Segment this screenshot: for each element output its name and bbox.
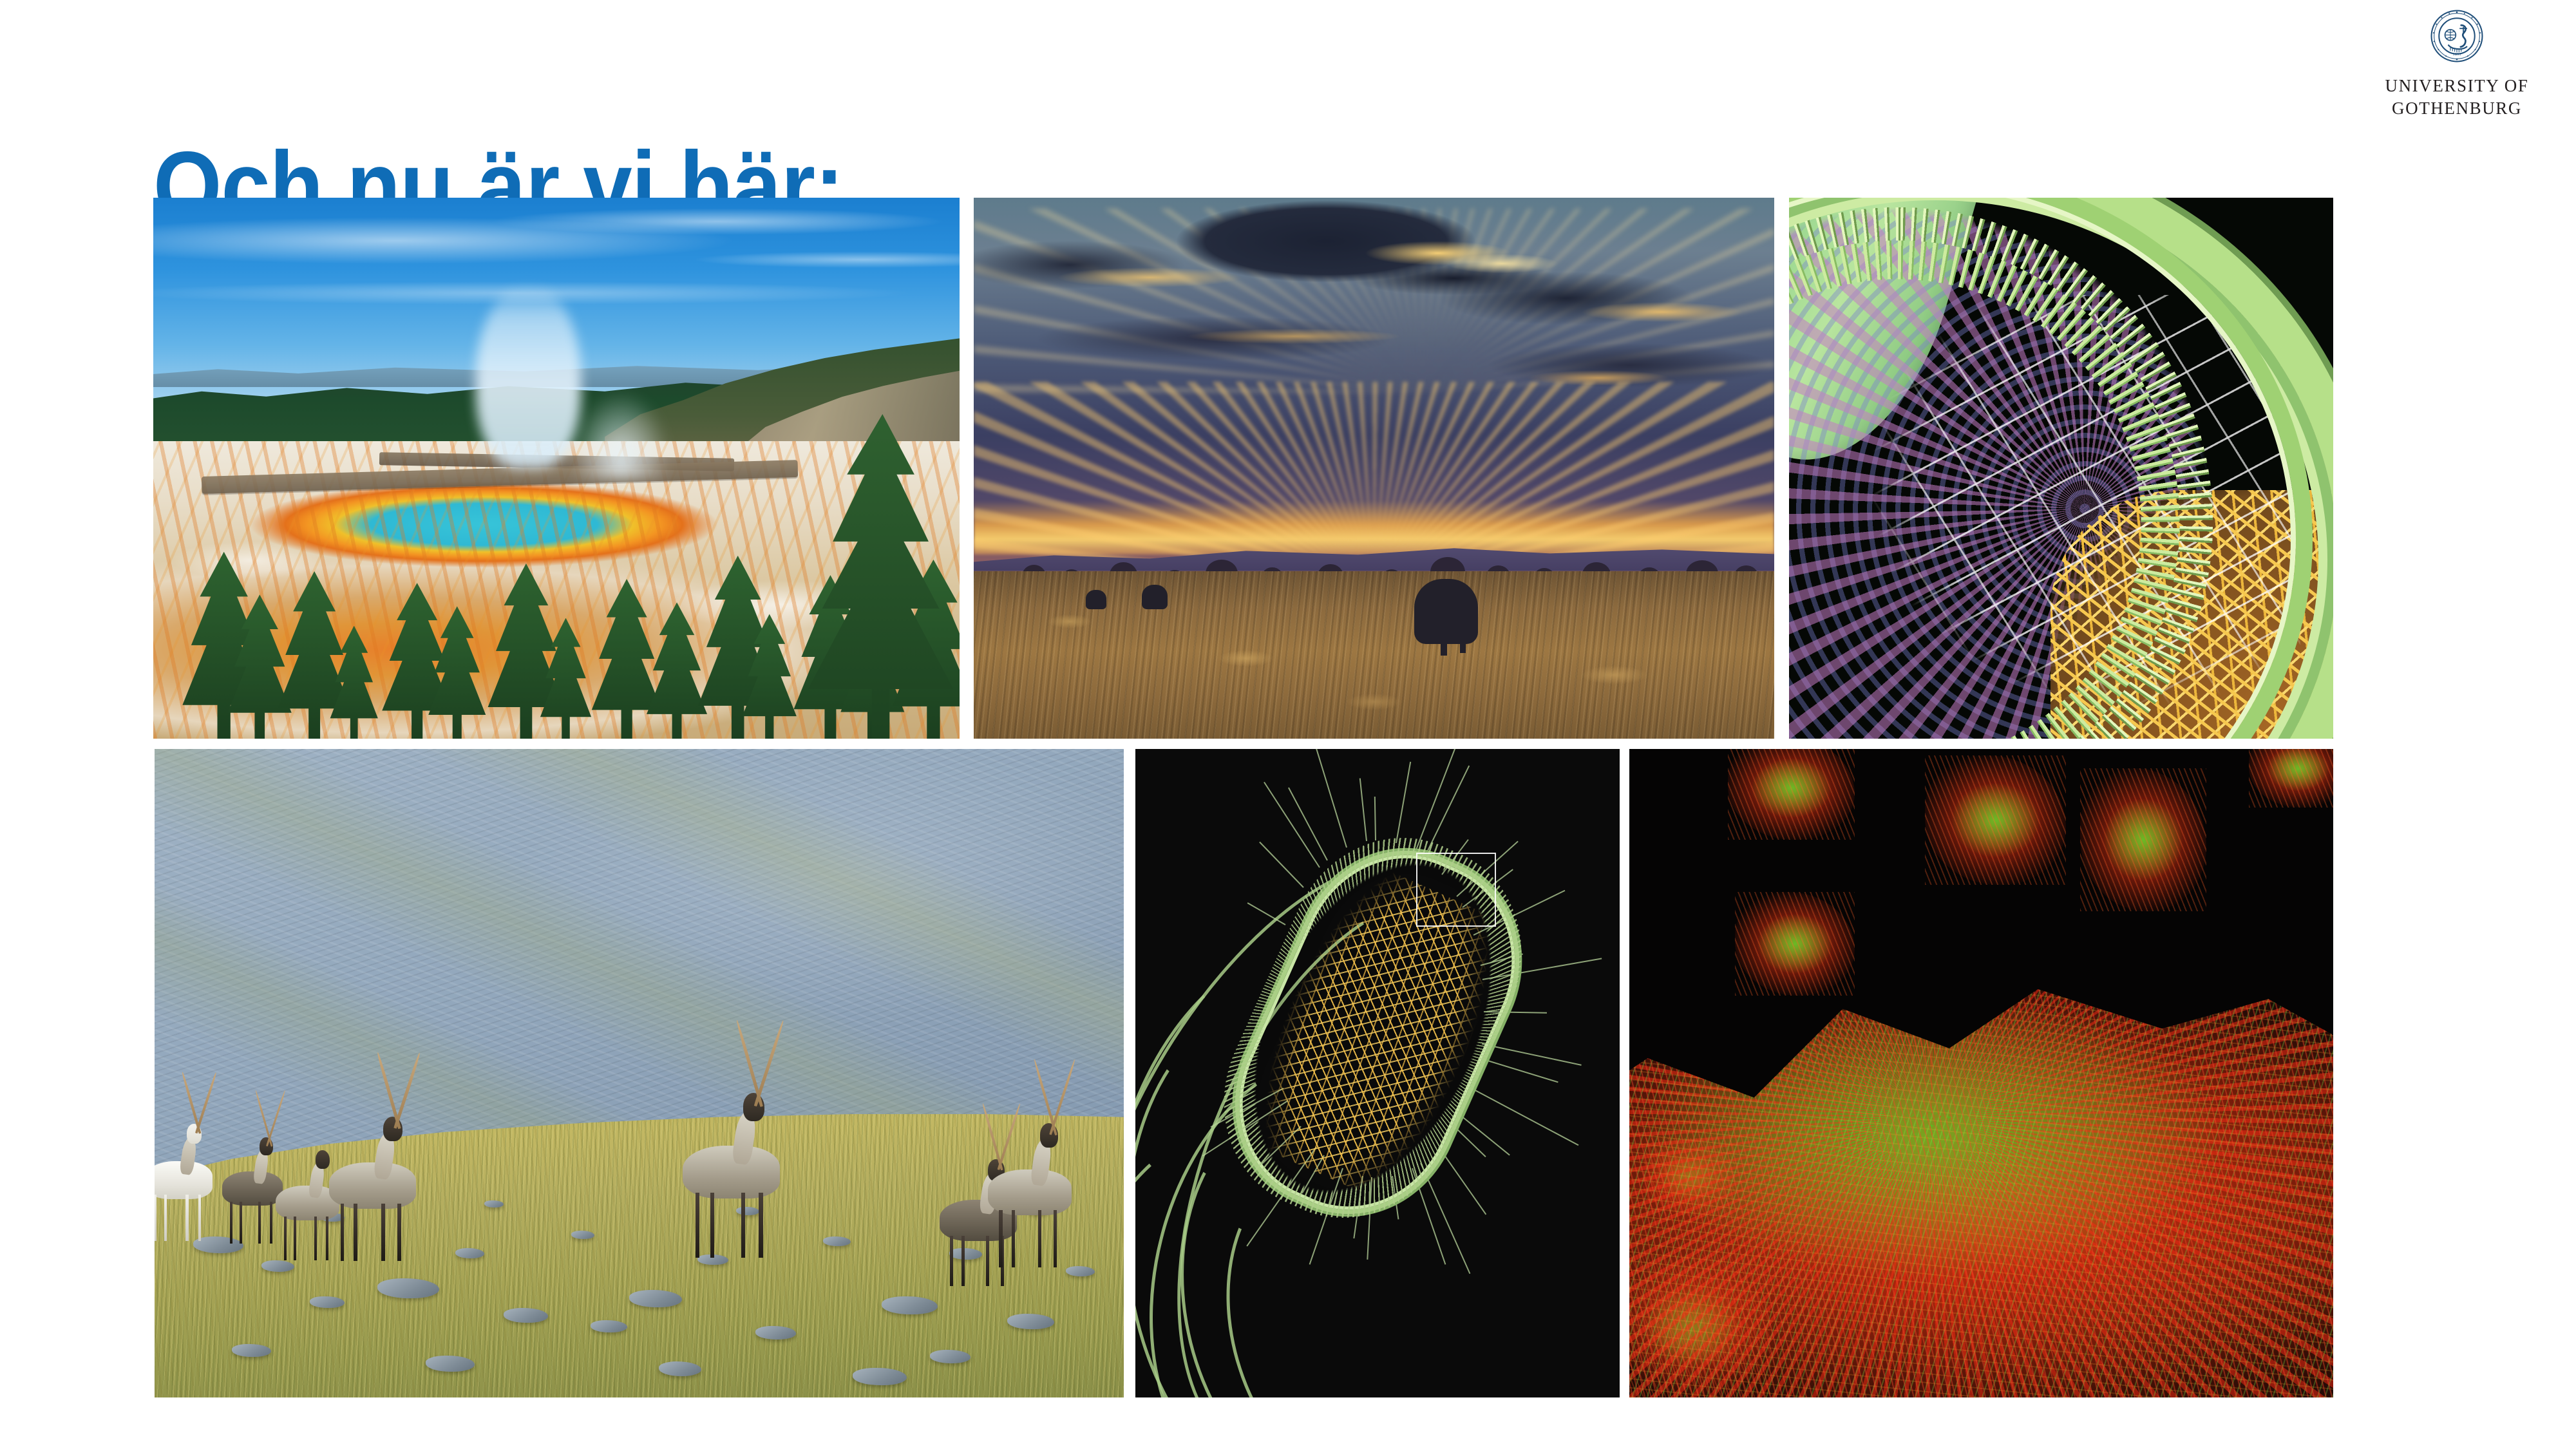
reindeer-legs xyxy=(690,1193,772,1258)
reindeer-leg xyxy=(326,1217,328,1260)
reindeer-leg xyxy=(381,1204,385,1261)
zoom-region-marker xyxy=(1416,853,1496,927)
reindeer-body xyxy=(222,1171,282,1206)
university-seal-icon: 1891 xyxy=(2430,9,2484,63)
pilus xyxy=(1454,1126,1486,1157)
university-logo-text: UNIVERSITY OF GOTHENBURG xyxy=(2383,75,2531,119)
reindeer-leg xyxy=(1054,1210,1057,1267)
university-logo: 1891 UNIVERSITY OF GOTHENBURG xyxy=(2383,9,2531,119)
grand-prismatic-spring-photo[interactable] xyxy=(153,198,960,739)
elephant-distant-1 xyxy=(1142,585,1168,610)
reindeer xyxy=(988,1128,1071,1264)
reindeer-leg xyxy=(240,1202,242,1244)
bacterial-cell-cross-section-illustration[interactable] xyxy=(1789,198,2333,739)
logo-line-1: UNIVERSITY OF xyxy=(2383,75,2531,97)
elephant-foreground xyxy=(1414,579,1478,644)
crepuscular-rays xyxy=(974,382,1774,566)
reindeer-antlers xyxy=(383,1051,413,1130)
conifer-tree xyxy=(637,602,717,739)
reindeer-leg xyxy=(314,1217,317,1260)
reindeer-legs xyxy=(155,1195,207,1241)
logo-line-2: GOTHENBURG xyxy=(2383,97,2531,120)
antler-right xyxy=(393,1052,421,1128)
reindeer xyxy=(329,1122,416,1258)
reindeer-leg xyxy=(155,1195,156,1241)
reindeer-body xyxy=(683,1146,780,1198)
reindeer-antlers xyxy=(260,1089,280,1148)
reindeer-herd-tundra-photo[interactable] xyxy=(155,749,1124,1397)
reindeer-antlers xyxy=(743,1018,776,1108)
nucleus xyxy=(1629,1003,1643,1015)
reindeer-legs xyxy=(281,1217,334,1260)
reindeer-body xyxy=(988,1170,1071,1216)
reindeer-leg xyxy=(741,1193,745,1258)
nucleus xyxy=(1629,781,1670,815)
antler-right xyxy=(266,1090,286,1146)
antler-right xyxy=(194,1072,216,1134)
reindeer-legs xyxy=(227,1202,278,1244)
pilus xyxy=(1259,842,1303,888)
pilus xyxy=(1374,797,1376,840)
antler-right xyxy=(754,1020,785,1107)
fluorescence-microscopy-cells-photo[interactable] xyxy=(1629,749,2333,1397)
reindeer-leg xyxy=(950,1236,953,1286)
reindeer-body xyxy=(329,1162,416,1209)
reindeer-leg xyxy=(710,1193,714,1258)
reindeer xyxy=(683,1099,780,1255)
reindeer-leg xyxy=(294,1217,296,1260)
reindeer-leg xyxy=(198,1195,201,1241)
reindeer-leg xyxy=(164,1195,167,1241)
reindeer-leg xyxy=(1038,1210,1041,1267)
pilus xyxy=(1311,749,1347,848)
reindeer-leg xyxy=(270,1202,272,1244)
reindeer-head xyxy=(316,1150,330,1169)
pilus xyxy=(1479,1057,1558,1083)
pilus xyxy=(1359,779,1367,841)
steam-plume-secondary xyxy=(573,392,669,478)
pilus xyxy=(1460,1115,1510,1155)
pilus xyxy=(1420,1163,1470,1274)
nucleus xyxy=(1629,815,1672,850)
reindeer-leg xyxy=(759,1193,762,1258)
steam-plume xyxy=(476,284,581,468)
reindeer-leg xyxy=(230,1202,232,1244)
reindeer-herd xyxy=(155,749,1124,1397)
reindeer xyxy=(155,1128,213,1238)
escherichia-coli-bacterium-illustration[interactable] xyxy=(1135,749,1620,1397)
pilus xyxy=(1415,749,1459,852)
reindeer-leg xyxy=(999,1210,1002,1267)
reindeer-leg xyxy=(284,1217,287,1260)
reindeer-leg xyxy=(1012,1210,1015,1267)
reindeer-leg xyxy=(696,1193,699,1258)
reindeer-leg xyxy=(341,1204,345,1261)
nucleus xyxy=(1629,925,1681,968)
reindeer-leg xyxy=(258,1202,261,1244)
nucleus xyxy=(1629,749,1669,781)
reindeer-leg xyxy=(961,1236,965,1286)
reindeer xyxy=(222,1141,282,1242)
seal-year-text: 1891 xyxy=(2452,52,2461,57)
reindeer-leg xyxy=(185,1195,188,1241)
antler-right xyxy=(1049,1059,1076,1135)
nucleus xyxy=(1629,881,1683,925)
african-savanna-sunset-photo[interactable] xyxy=(974,198,1774,739)
pilus xyxy=(1247,902,1286,925)
reindeer-legs xyxy=(336,1204,410,1261)
pilus xyxy=(1438,1147,1486,1215)
elephant-distant-2 xyxy=(1086,590,1106,609)
pilus xyxy=(1396,762,1411,843)
reindeer-legs xyxy=(995,1210,1065,1267)
nucleus xyxy=(1629,968,1672,1003)
reindeer-antlers xyxy=(1040,1057,1068,1137)
cell-nuclei xyxy=(1629,749,2333,1397)
nucleus xyxy=(1629,850,1667,881)
reindeer-leg xyxy=(397,1204,401,1261)
reindeer-antlers xyxy=(187,1071,210,1135)
reindeer-leg xyxy=(354,1204,357,1261)
